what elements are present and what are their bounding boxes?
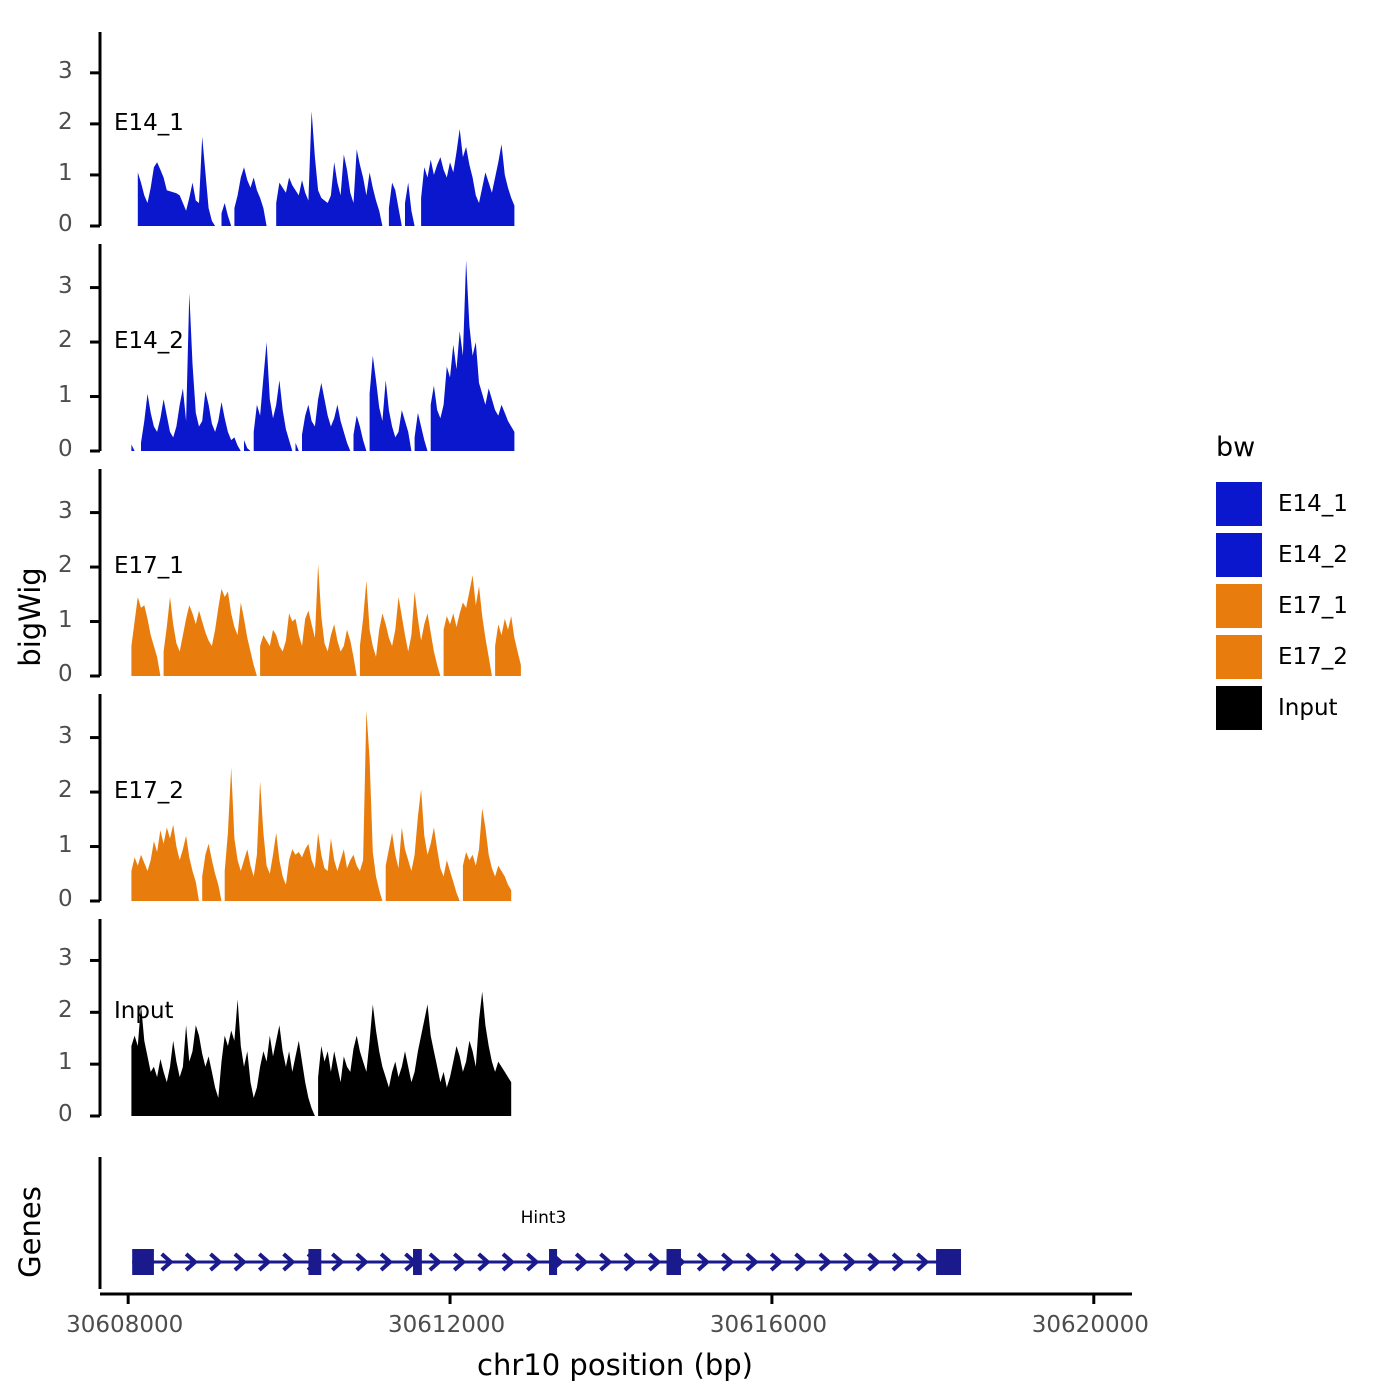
- gene-exon[interactable]: [549, 1249, 557, 1275]
- y-tick-label: 1: [58, 832, 73, 858]
- x-tick-label: 30608000: [66, 1312, 183, 1338]
- signal-area-E14_1: [138, 111, 515, 226]
- panel-label-E14_1: E14_1: [114, 110, 184, 136]
- panel-label-E14_2: E14_2: [114, 328, 184, 354]
- signal-area-Input: [131, 992, 511, 1116]
- legend-label-E14_1: E14_1: [1278, 491, 1348, 517]
- legend-label-E14_2: E14_2: [1278, 542, 1348, 568]
- signal-area-E17_1: [131, 564, 521, 676]
- gene-exon[interactable]: [667, 1249, 681, 1275]
- x-tick-label: 30616000: [710, 1312, 827, 1338]
- legend-key-E17_2[interactable]: [1216, 635, 1262, 679]
- y-tick-label: 2: [58, 327, 73, 353]
- legend-title: bw: [1216, 432, 1255, 463]
- y-tick-label: 1: [58, 607, 73, 633]
- legend-label-Input: Input: [1278, 695, 1338, 721]
- gene-exon[interactable]: [413, 1249, 422, 1275]
- x-tick-label: 30612000: [388, 1312, 505, 1338]
- legend-label-E17_1: E17_1: [1278, 593, 1348, 619]
- gene-exon[interactable]: [132, 1249, 154, 1275]
- y-tick-label: 2: [58, 997, 73, 1023]
- legend-key-Input[interactable]: [1216, 686, 1262, 730]
- y-tick-label: 2: [58, 109, 73, 135]
- y-tick-label: 0: [58, 661, 73, 687]
- x-tick-label: 30620000: [1032, 1312, 1149, 1338]
- plot-canvas: [0, 0, 1400, 1400]
- signal-area-E14_2: [131, 260, 514, 451]
- y-tick-label: 3: [58, 498, 73, 524]
- gene-exon[interactable]: [308, 1249, 321, 1275]
- panel-label-Input: Input: [114, 998, 174, 1024]
- legend-key-E14_1[interactable]: [1216, 482, 1262, 526]
- legend-key-E17_1[interactable]: [1216, 584, 1262, 628]
- y-tick-label: 0: [58, 886, 73, 912]
- y-tick-label: 0: [58, 1101, 73, 1127]
- y-tick-label: 2: [58, 777, 73, 803]
- y-tick-label: 3: [58, 58, 73, 84]
- y-tick-label: 3: [58, 723, 73, 749]
- legend-key-E14_2[interactable]: [1216, 533, 1262, 577]
- signal-area-E17_2: [131, 710, 511, 901]
- panel-label-E17_1: E17_1: [114, 553, 184, 579]
- y-tick-label: 1: [58, 1049, 73, 1075]
- y-tick-label: 0: [58, 211, 73, 237]
- legend-label-E17_2: E17_2: [1278, 644, 1348, 670]
- gene-exon[interactable]: [936, 1249, 961, 1275]
- y-tick-label: 1: [58, 382, 73, 408]
- gene-name-label: Hint3: [521, 1208, 567, 1228]
- y-tick-label: 3: [58, 273, 73, 299]
- panel-label-E17_2: E17_2: [114, 778, 184, 804]
- y-tick-label: 0: [58, 436, 73, 462]
- y-tick-label: 3: [58, 945, 73, 971]
- genome-browser-figure: bigWig Genes chr10 position (bp) 0123E14…: [0, 0, 1400, 1400]
- y-tick-label: 1: [58, 160, 73, 186]
- y-tick-label: 2: [58, 552, 73, 578]
